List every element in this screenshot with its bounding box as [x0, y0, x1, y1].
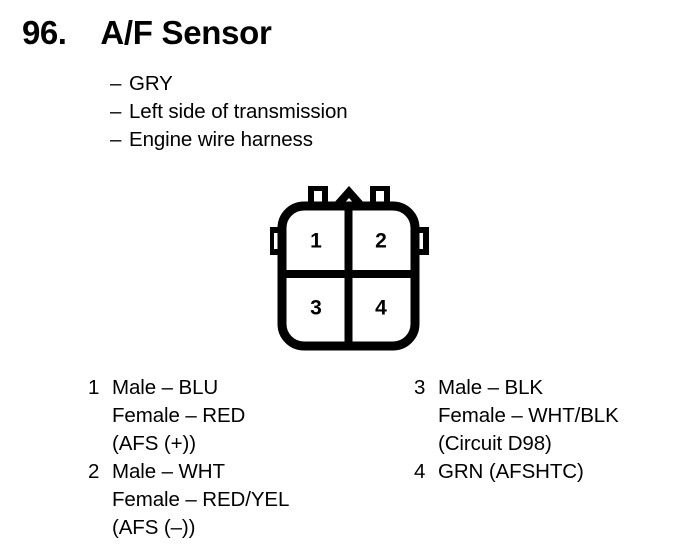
- spec-list-item-label: Left side of transmission: [129, 100, 348, 123]
- pin-legend-left-column: 1 Male – BLU Female – RED (AFS (+)) 2 Ma…: [88, 374, 289, 542]
- pin-legend-lines: Male – BLU Female – RED (AFS (+)): [112, 374, 245, 458]
- dash-bullet-icon: –: [110, 70, 129, 98]
- spec-list: –GRY –Left side of transmission –Engine …: [110, 70, 348, 154]
- section-number: 96.: [22, 16, 66, 49]
- pin-legend-line: Male – BLU: [112, 376, 218, 399]
- pin-legend-number: 3: [414, 374, 438, 402]
- connector-diagram: 1 2 3 4: [270, 186, 445, 351]
- connector-svg: 1 2 3 4: [270, 186, 445, 351]
- pin-legend-line: Male – WHT: [112, 460, 225, 483]
- spec-list-item: –GRY: [110, 70, 348, 98]
- pin-legend-line: (AFS (–)): [112, 516, 195, 539]
- dash-bullet-icon: –: [110, 126, 129, 154]
- pin-legend-lines: Male – WHT Female – RED/YEL (AFS (–)): [112, 458, 289, 542]
- pin-legend-entry: 4 GRN (AFSHTC): [414, 458, 619, 486]
- pin-legend-line: (Circuit D98): [438, 432, 552, 455]
- connector-pin-1: 1: [310, 230, 322, 253]
- spec-list-item: –Left side of transmission: [110, 98, 348, 126]
- pin-legend-line: Female – WHT/BLK: [438, 404, 619, 427]
- pin-legend-lines: Male – BLK Female – WHT/BLK (Circuit D98…: [438, 374, 619, 458]
- pin-legend-lines: GRN (AFSHTC): [438, 458, 584, 486]
- pin-legend-number: 2: [88, 458, 112, 486]
- pin-legend-line: GRN (AFSHTC): [438, 460, 584, 483]
- connector-pin-3: 3: [310, 297, 322, 320]
- connector-pin-4: 4: [375, 297, 387, 320]
- dash-bullet-icon: –: [110, 98, 129, 126]
- pin-legend-line: Male – BLK: [438, 376, 543, 399]
- pin-legend-line: Female – RED: [112, 404, 245, 427]
- pin-legend-right-column: 3 Male – BLK Female – WHT/BLK (Circuit D…: [414, 374, 619, 486]
- pin-legend: 1 Male – BLU Female – RED (AFS (+)) 2 Ma…: [0, 374, 688, 554]
- title-row: 96. A/F Sensor: [22, 16, 272, 49]
- spec-list-item-label: Engine wire harness: [129, 128, 313, 151]
- spec-list-item: –Engine wire harness: [110, 126, 348, 154]
- pin-legend-line: Female – RED/YEL: [112, 488, 289, 511]
- pin-legend-entry: 2 Male – WHT Female – RED/YEL (AFS (–)): [88, 458, 289, 542]
- connector-pin-2: 2: [375, 230, 387, 253]
- pin-legend-number: 1: [88, 374, 112, 402]
- spec-list-item-label: GRY: [129, 72, 173, 95]
- pin-legend-entry: 3 Male – BLK Female – WHT/BLK (Circuit D…: [414, 374, 619, 458]
- pin-legend-line: (AFS (+)): [112, 432, 196, 455]
- page-title: A/F Sensor: [100, 16, 271, 49]
- pin-legend-entry: 1 Male – BLU Female – RED (AFS (+)): [88, 374, 289, 458]
- pin-legend-number: 4: [414, 458, 438, 486]
